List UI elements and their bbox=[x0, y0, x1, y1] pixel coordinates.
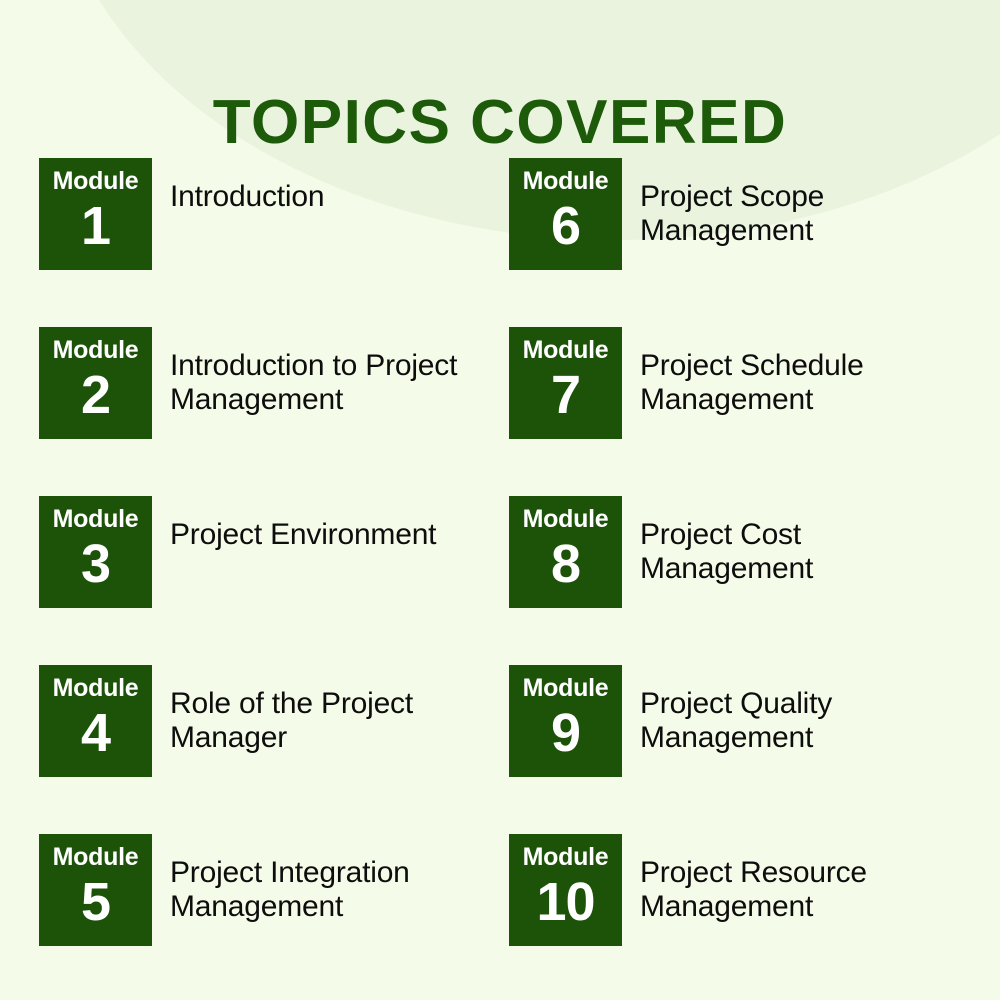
module-badge-label: Module bbox=[53, 167, 139, 195]
module-badge: Module 9 bbox=[509, 665, 622, 777]
module-title: Project Cost Management bbox=[622, 496, 961, 586]
module-row[interactable]: Module 2 Introduction to Project Managem… bbox=[39, 327, 491, 439]
module-badge-label: Module bbox=[523, 167, 609, 195]
modules-grid: Module 1 Introduction Module 6 Project S… bbox=[39, 158, 961, 946]
module-badge-number: 8 bbox=[551, 533, 580, 595]
module-row[interactable]: Module 3 Project Environment bbox=[39, 496, 491, 608]
module-row[interactable]: Module 7 Project Schedule Management bbox=[509, 327, 961, 439]
module-badge-number: 5 bbox=[81, 871, 110, 933]
module-badge: Module 1 bbox=[39, 158, 152, 270]
module-badge-number: 10 bbox=[536, 871, 594, 933]
module-badge-number: 7 bbox=[551, 364, 580, 426]
module-badge-label: Module bbox=[53, 336, 139, 364]
module-badge: Module 6 bbox=[509, 158, 622, 270]
module-badge-label: Module bbox=[523, 674, 609, 702]
module-title: Introduction bbox=[152, 158, 491, 214]
module-badge-label: Module bbox=[523, 336, 609, 364]
module-badge-label: Module bbox=[53, 674, 139, 702]
poster-canvas: TOPICS COVERED Module 1 Introduction Mod… bbox=[0, 0, 1000, 1000]
module-title: Project Schedule Management bbox=[622, 327, 961, 417]
module-badge: Module 8 bbox=[509, 496, 622, 608]
module-badge: Module 2 bbox=[39, 327, 152, 439]
module-row[interactable]: Module 4 Role of the Project Manager bbox=[39, 665, 491, 777]
module-title: Project Scope Management bbox=[622, 158, 961, 248]
module-row[interactable]: Module 10 Project Resource Management bbox=[509, 834, 961, 946]
module-badge-number: 9 bbox=[551, 702, 580, 764]
module-badge: Module 4 bbox=[39, 665, 152, 777]
module-row[interactable]: Module 9 Project Quality Management bbox=[509, 665, 961, 777]
module-badge-number: 1 bbox=[81, 195, 110, 257]
module-badge-number: 3 bbox=[81, 533, 110, 595]
module-row[interactable]: Module 6 Project Scope Management bbox=[509, 158, 961, 270]
module-badge: Module 10 bbox=[509, 834, 622, 946]
module-badge: Module 5 bbox=[39, 834, 152, 946]
module-title: Project Resource Management bbox=[622, 834, 961, 924]
page-title: TOPICS COVERED bbox=[0, 92, 1000, 154]
module-row[interactable]: Module 8 Project Cost Management bbox=[509, 496, 961, 608]
module-title: Project Integration Management bbox=[152, 834, 491, 924]
module-badge-label: Module bbox=[53, 843, 139, 871]
module-badge: Module 7 bbox=[509, 327, 622, 439]
module-badge-label: Module bbox=[523, 843, 609, 871]
module-badge-number: 2 bbox=[81, 364, 110, 426]
module-title: Project Environment bbox=[152, 496, 491, 552]
module-title: Project Quality Management bbox=[622, 665, 961, 755]
module-badge-label: Module bbox=[523, 505, 609, 533]
module-badge-number: 6 bbox=[551, 195, 580, 257]
module-title: Introduction to Project Management bbox=[152, 327, 491, 417]
module-title: Role of the Project Manager bbox=[152, 665, 491, 755]
module-badge-number: 4 bbox=[81, 702, 110, 764]
module-badge-label: Module bbox=[53, 505, 139, 533]
module-row[interactable]: Module 1 Introduction bbox=[39, 158, 491, 270]
module-row[interactable]: Module 5 Project Integration Management bbox=[39, 834, 491, 946]
module-badge: Module 3 bbox=[39, 496, 152, 608]
